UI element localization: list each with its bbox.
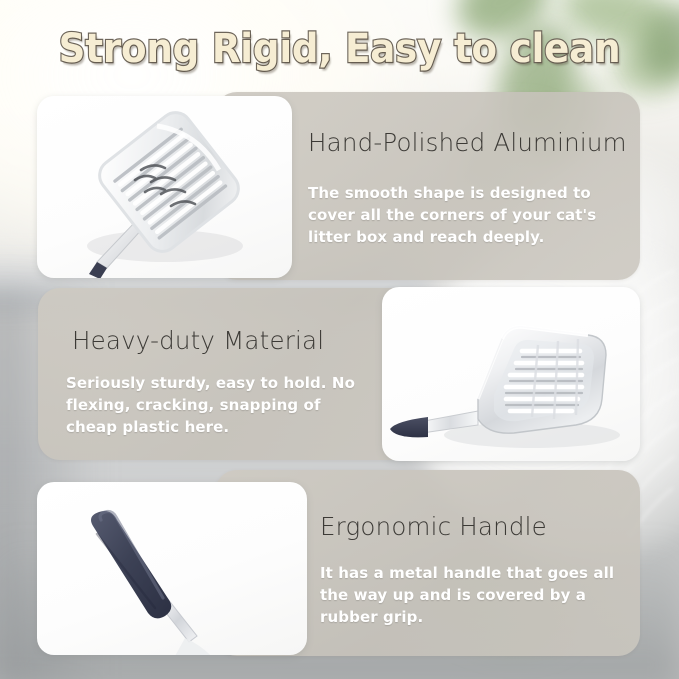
feature-heading-1: Hand-Polished Aluminium (308, 128, 627, 157)
feature-body-3: It has a metal handle that goes all the … (320, 562, 630, 628)
feature-body-2: Seriously sturdy, easy to hold. No flexi… (66, 372, 376, 438)
feature-image-card-3 (37, 482, 307, 655)
feature-image-card-2 (382, 287, 640, 461)
feature-heading-2: Heavy-duty Material (72, 326, 324, 355)
product-image-scoop-angled (382, 287, 640, 461)
page-title: Strong Rigid, Easy to clean (24, 26, 655, 72)
product-image-scoop-top (37, 96, 292, 278)
feature-heading-3: Ergonomic Handle (320, 512, 547, 541)
feature-body-1: The smooth shape is designed to cover al… (308, 182, 628, 248)
infographic-stage: Strong Rigid, Easy to clean (0, 0, 679, 679)
product-image-handle-grip (37, 482, 307, 655)
feature-image-card-1 (37, 96, 292, 278)
